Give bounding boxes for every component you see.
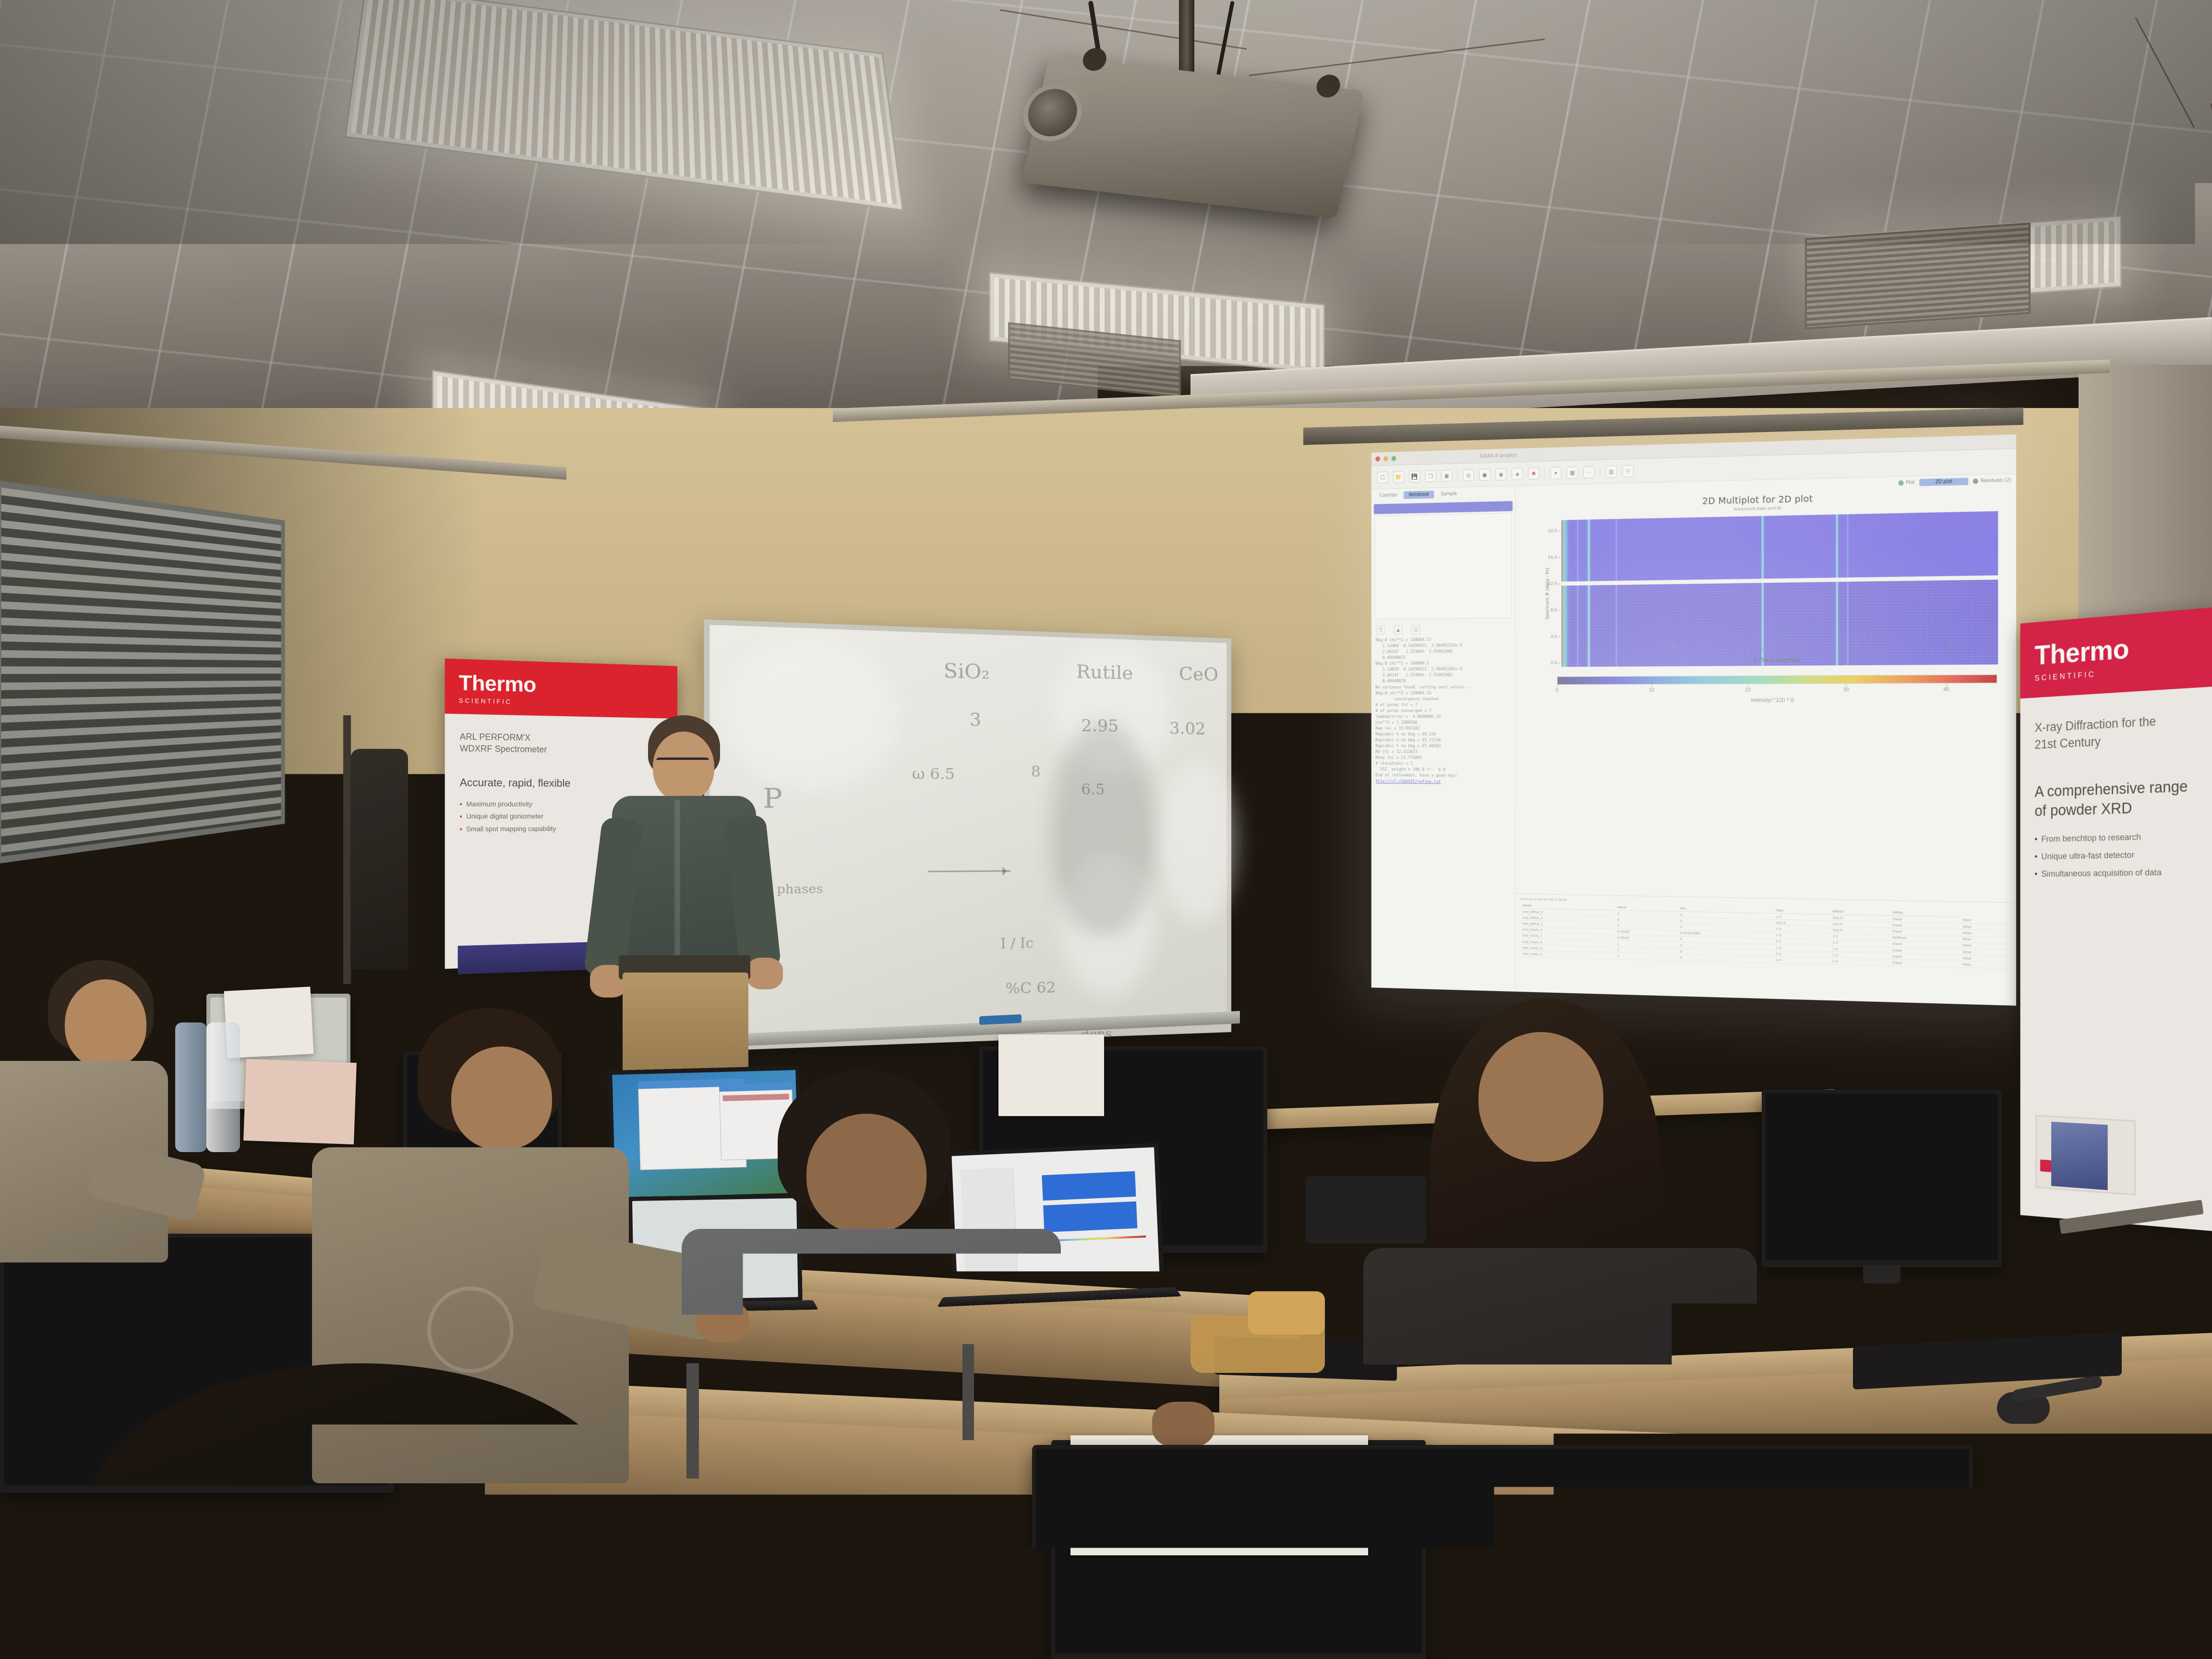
console-toolbar[interactable]: ❐ ▲ ◫ [1371,621,1515,637]
app-right-pane: Plot 2D plot Residuals (2) 2D Multiplot … [1515,474,2016,1006]
console-line: End of refinement, have a good day! [1375,772,1511,779]
plot-icon[interactable]: ▤ [1606,465,1617,478]
diffraction-peak-line [1835,515,1839,578]
constraints-icon[interactable]: ◈ [1512,468,1523,480]
banner-body: X-ray Diffraction for the 21st Century A… [2020,686,2212,883]
whiteboard-arrow [928,870,1011,872]
banner-tagline: A comprehensive range of powder XRD [2035,776,2200,821]
diffraction-peak-line [1576,520,1578,581]
toolbar-separator [1457,469,1458,481]
projection-screen: File Data Calculate Import Export Help G… [1371,434,2016,1006]
refinement-console-output: Bkg:0 chi**2 = 148084.17 1.14484 0.14298… [1371,635,1515,992]
whiteboard-glare [1160,762,1236,923]
zoom-icon[interactable]: ◎ [1463,469,1474,481]
x-tick-label: 30 [1581,648,1586,653]
maximize-button[interactable] [1392,456,1396,461]
equipment-box [1306,1176,1426,1243]
student-head [451,1046,552,1150]
low-angle-hot-edge [1563,520,1569,581]
app-left-pane: Controls Notebook Sample ❐ ▲ ◫ Bkg:0 chi… [1371,486,1515,991]
colorbar-tick-label: 0 [1556,688,1559,694]
console-line: Rwp(obs) % no bkg = 67.40583 [1375,743,1511,749]
console-line: chi**2 = 1.1088586 [1375,720,1511,725]
console-line: Rwp(obs) % no bkg = 69.534 [1375,731,1511,737]
heatmap-chart: Spectrum # (data : fit) 0.04.08.012.016.… [1545,511,1998,667]
hanging-coat [350,749,408,970]
filter-icon[interactable]: ⋯ [1583,466,1595,478]
presenter-shadow [1051,721,1155,934]
tab-sample[interactable]: Sample [1436,490,1462,498]
console-line: # of parms converged = 7 [1375,708,1511,714]
tab-notebook[interactable]: Notebook [1404,491,1434,499]
console-line: 0.40440870 [1375,678,1511,684]
y-tick-label: 20.0 [1548,528,1557,533]
console-line: Rwp (%) = 15.897182 [1375,725,1511,732]
banner-bullet: Unique ultra-fast detector [2035,845,2200,866]
toolbar-separator [1600,466,1600,478]
snack-item [1248,1291,1325,1334]
parameters-table-panel[interactable]: Click on a cell to edit a value namevalu… [1515,893,2016,1006]
colorbar-tick-label: 40 [1943,687,1949,692]
console-line: Bkg:0 chi**2 = 148084.33 [1375,690,1511,696]
copy-icon[interactable]: ❐ [1425,470,1436,482]
student-head [65,979,146,1068]
whiteboard-note: ω 6.5 [912,765,955,783]
tree-selected-item[interactable] [1374,501,1513,514]
banner-product: X-ray Diffraction for the 21st Century [2035,710,2200,754]
banner-header: Thermo SCIENTIFIC [445,659,677,719]
table-cell[interactable]: Fixed [1890,960,1960,968]
plot-tab-icon [1899,480,1904,485]
residuals-tab-icon [1973,478,1978,483]
colorbar: 010203040 Intensity(^1/2) * Q [1557,674,1997,703]
whiteboard-note: 6.5 [1081,781,1105,798]
heatmap-band-fit [1562,511,1998,582]
toolbar-separator [1545,467,1545,479]
colorbar-ticks: 010203040 [1557,683,1997,697]
plot-tab-2d-plot[interactable]: 2D plot [1919,478,1968,486]
shirt-placket [674,800,680,963]
banner-instrument-image [2035,1115,2136,1195]
console-line: Rexp (%) = 11.773885 [1375,755,1511,761]
window-blinds [1,488,281,857]
x-tick-label: 40 [1670,647,1675,652]
app-body: Controls Notebook Sample ❐ ▲ ◫ Bkg:0 chi… [1371,474,2016,1006]
table-cell[interactable]: 1.0 [1830,958,1890,966]
student-hand [1152,1402,1214,1448]
refine-icon[interactable]: ● [1479,469,1490,481]
paste-icon[interactable]: ▲ [1394,625,1403,635]
console-line: No variance found, setting unit values..… [1375,684,1511,690]
table-icon[interactable]: ▦ [1567,466,1578,478]
colorbar-label: Intensity(^1/2) * Q [1557,697,1997,704]
save-icon[interactable]: 💾 [1409,470,1420,482]
projector-mount-rod [1179,0,1194,82]
diffraction-peak-line [1847,514,1849,577]
open-project-icon[interactable]: 📁 [1393,471,1404,483]
monitor-screen [1036,1449,1969,1658]
console-line: lambda/error = 4.000000E-14 [1375,714,1511,720]
thermo-banner-right: Thermo SCIENTIFIC X-ray Diffraction for … [2020,607,2212,1231]
classroom-scene: SiO₂RutileCeO32.953.02ω 6.586.5I / Ic%C … [0,0,2212,1659]
console-line: 2.66147 1.17404% 2.55462902 [1375,672,1511,679]
student-far-left [0,960,216,1258]
student-head [1479,1032,1603,1162]
y-tick-label: 4.0 [1551,634,1557,639]
brand-name: Thermo [459,671,665,700]
console-line: Rb (%) = 12.413673 [1375,749,1511,755]
coat-rack-pole [343,715,351,984]
foreground-hair [86,1363,634,1659]
x-tick-label: 50 [1761,647,1766,652]
heatmap-bands [1562,511,1998,667]
foreground-person [29,1363,701,1659]
x-axis: 2-Theta (degrees) 3040506070 [1557,645,2008,666]
copy-icon[interactable]: ❐ [1376,625,1384,635]
window-with-blinds [0,480,285,864]
whiteboard-note: 3 [970,709,982,730]
x-axis-label: 2-Theta (degrees) [1557,655,2008,664]
clear-icon[interactable]: ◫ [1412,625,1420,634]
diffraction-peak-line [1761,516,1765,579]
presenter-head [653,732,714,802]
whiteboard-note: 3.02 [1169,719,1206,739]
gsas2-application-window: File Data Calculate Import Export Help G… [1371,434,2016,1006]
diffraction-peak-line [1615,519,1617,581]
whiteboard-note: Rutile [1076,661,1133,684]
y-tick-label: 16.0 [1548,555,1557,560]
minimize-button[interactable] [1383,456,1388,461]
table-cell[interactable]: 1.0 [1773,957,1830,964]
close-button[interactable] [1375,457,1380,462]
banner-bullet: Simultaneous acquisition of data [2035,864,2200,883]
plot-tab-residuals[interactable]: Residuals (2) [1973,478,2011,484]
parameters-table[interactable]: namevalueminmaxstatusrefine inst_zffine_… [1520,902,2012,969]
whiteboard-note: %C 62 [1006,979,1056,998]
band-background [1562,511,1998,582]
y-tick-label: 12.0 [1548,581,1557,587]
banner-header: Thermo SCIENTIFIC [2020,607,2212,698]
presenter-glasses [656,757,709,766]
new-project-icon[interactable]: ☐ [1377,471,1388,483]
colorbar-tick-label: 30 [1843,687,1849,693]
x-tick-label: 60 [1853,646,1859,651]
paste-icon[interactable]: ▣ [1441,469,1452,481]
y-axis-ticks: 0.04.08.012.016.020.0 [1541,520,1559,667]
plot-tab-plot[interactable]: Plot [1899,480,1915,486]
whiteboard-note: 8 [1031,763,1041,781]
ceiling-air-vent [1805,223,2031,330]
plot-tab-label: Plot [1906,480,1914,485]
sequential-icon[interactable]: ◉ [1495,468,1506,480]
app-title: GSAS-II project [1480,452,1517,459]
banner-bullet-list: From benchtop to researchUnique ultra-fa… [2035,827,2200,883]
tree-panel[interactable] [1375,513,1512,620]
pick-icon[interactable]: ▾ [1550,467,1562,479]
diffraction-peak-line [1587,519,1591,581]
whiteboard-note: 2.95 [1081,716,1118,736]
y-tick-label: 8.0 [1551,608,1557,613]
whiteboard-note: I / Ic [1000,935,1034,952]
plot-tab-label: 2D plot [1935,479,1952,485]
student-head [806,1114,926,1234]
delete-icon[interactable]: ✖ [1528,467,1539,479]
colorbar-tick-label: 20 [1745,688,1751,693]
table-cell[interactable]: false [1960,961,2012,969]
whiteboard-note: SiO₂ [943,660,989,684]
shirt-logo [427,1286,514,1373]
console-line: # of parms fit = 7 [1375,702,1511,708]
plot-tab-label: Residuals (2) [1981,478,2011,483]
presenter-hand-right [746,958,783,989]
x-tick-label: 70 [1948,645,1953,650]
student-shirt [682,1229,1061,1608]
console-line: Rwp(obs) % no bkg = 65.27234 [1375,737,1511,744]
monitor-stand [1863,1265,1900,1284]
foreground-monitor [1032,1445,1973,1659]
console-line: convergence reached [1375,696,1511,702]
info-icon[interactable]: ☉ [1622,465,1634,477]
whiteboard-note: CeO [1179,663,1218,685]
tree-tab-bar[interactable]: Controls Notebook Sample [1371,486,1515,502]
table-body[interactable]: inst_zffine_0001.0500.0Fixedfalseinst_zf… [1520,908,2012,968]
tab-controls[interactable]: Controls [1375,492,1402,500]
y-tick-label: 0.0 [1551,661,1557,666]
table-cell[interactable]: 0 [1614,953,1677,961]
console-line[interactable]: file:///C:/GSASII/refine.lst [1375,778,1511,785]
colorbar-tick-label: 10 [1649,688,1655,693]
